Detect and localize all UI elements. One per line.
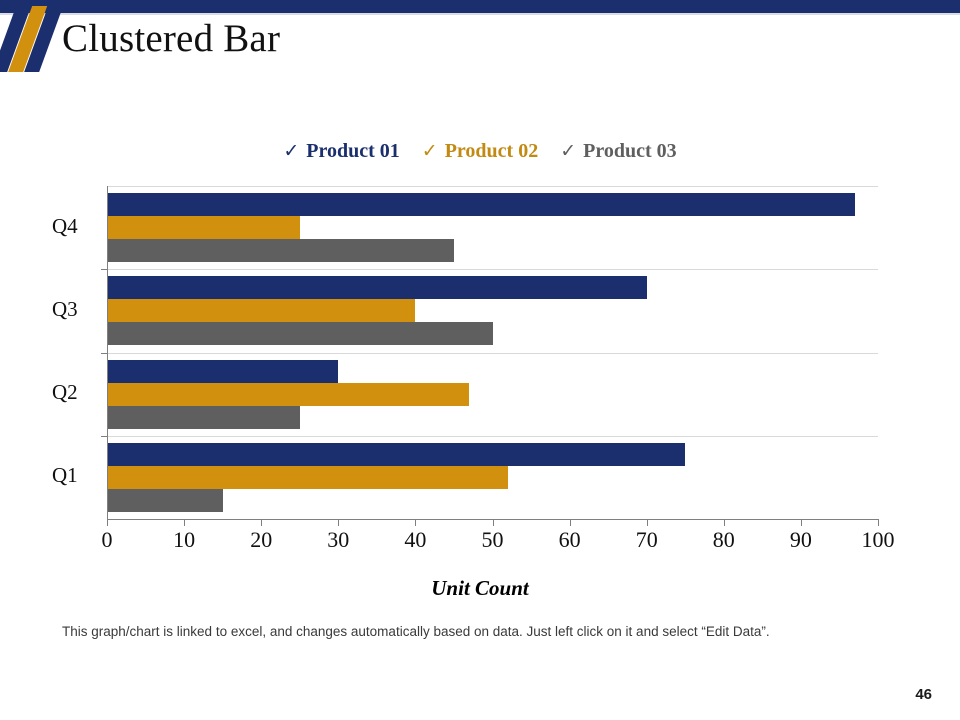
bar-q4-series-2[interactable]: [107, 216, 300, 239]
value-axis-line: [107, 186, 108, 519]
legend-item-label: Product 01: [306, 140, 400, 163]
bar-q3-series-2[interactable]: [107, 299, 415, 322]
value-tick: [338, 519, 339, 526]
bar-group-q3: [107, 269, 878, 352]
value-tick: [493, 519, 494, 526]
value-tick-label: 50: [482, 527, 504, 553]
value-tick: [801, 519, 802, 526]
value-tick-label: 10: [173, 527, 195, 553]
bar-q4-series-1[interactable]: [107, 193, 855, 216]
value-tick-label: 80: [713, 527, 735, 553]
bar-group-q2: [107, 353, 878, 436]
value-tick-label: 70: [636, 527, 658, 553]
category-label-q1: Q1: [52, 463, 104, 488]
bar-q1-series-2[interactable]: [107, 466, 508, 489]
bar-group-q1: [107, 436, 878, 519]
bar-q2-series-2[interactable]: [107, 383, 469, 406]
category-label-q3: Q3: [52, 297, 104, 322]
value-axis: [107, 519, 878, 520]
value-tick: [570, 519, 571, 526]
bar-q2-series-1[interactable]: [107, 360, 338, 383]
value-tick-label: 40: [404, 527, 426, 553]
value-tick-label: 90: [790, 527, 812, 553]
category-axis-labels: Q4Q3Q2Q1: [52, 186, 102, 519]
value-tick: [184, 519, 185, 526]
value-tick: [107, 519, 108, 526]
bar-q3-series-3[interactable]: [107, 322, 493, 345]
category-label-q2: Q2: [52, 380, 104, 405]
legend-item-1[interactable]: ✓Product 01: [283, 140, 399, 163]
bar-q2-series-3[interactable]: [107, 406, 300, 429]
footnote-text: This graph/chart is linked to excel, and…: [62, 624, 922, 639]
check-icon: ✓: [560, 142, 576, 161]
value-tick: [724, 519, 725, 526]
axis-title: Unit Count: [0, 576, 960, 601]
value-tick: [647, 519, 648, 526]
value-axis-labels: 0102030405060708090100: [0, 527, 960, 557]
value-tick: [261, 519, 262, 526]
value-tick-label: 30: [327, 527, 349, 553]
bar-q1-series-3[interactable]: [107, 489, 223, 512]
top-accent-bar-shadow: [0, 13, 960, 15]
check-icon: ✓: [422, 142, 438, 161]
legend-item-2[interactable]: ✓Product 02: [422, 140, 538, 163]
check-icon: ✓: [283, 142, 299, 161]
value-tick: [415, 519, 416, 526]
bar-q1-series-1[interactable]: [107, 443, 685, 466]
bar-group-q4: [107, 186, 878, 269]
legend-item-label: Product 03: [583, 140, 677, 163]
top-accent-bar: [0, 0, 960, 13]
value-tick-label: 60: [559, 527, 581, 553]
value-tick-label: 0: [102, 527, 113, 553]
plot-area: [107, 186, 878, 519]
page-number: 46: [915, 686, 932, 703]
value-tick: [878, 519, 879, 526]
slash-decoration: [0, 0, 62, 72]
bar-q4-series-3[interactable]: [107, 239, 454, 262]
chart-legend: ✓Product 01✓Product 02✓Product 03: [0, 140, 960, 163]
value-tick-label: 20: [250, 527, 272, 553]
slash-top-mask: [0, 0, 62, 6]
category-label-q4: Q4: [52, 214, 104, 239]
bar-q3-series-1[interactable]: [107, 276, 647, 299]
legend-item-3[interactable]: ✓Product 03: [560, 140, 676, 163]
value-tick-label: 100: [862, 527, 895, 553]
page-title: Clustered Bar: [62, 16, 280, 61]
clustered-bar-chart: [107, 186, 878, 519]
legend-item-label: Product 02: [445, 140, 539, 163]
